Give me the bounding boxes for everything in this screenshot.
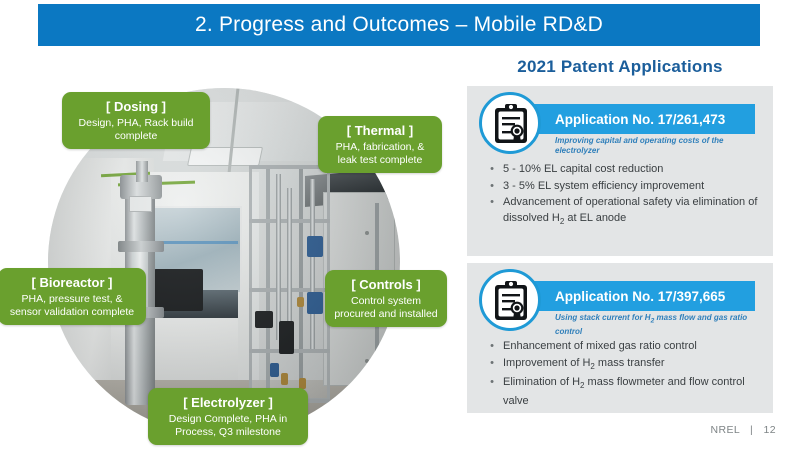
patent-card-2-banner: Application No. 17/397,665 [507,281,755,311]
list-item: • 3 - 5% EL system efficiency improvemen… [481,179,763,195]
bullet-icon: • [481,162,503,178]
callout-controls[interactable]: [ Controls ] Control system procured and… [325,270,447,327]
callout-dosing-title: [ Dosing ] [71,98,201,115]
patent-card-2-bullets: • Enhancement of mixed gas ratio control… [481,339,763,410]
list-item: • Improvement of H2 mass transfer [481,356,763,375]
callout-thermal-title: [ Thermal ] [327,122,433,139]
callout-bioreactor-title: [ Bioreactor ] [7,274,137,291]
patent-card-1[interactable]: Application No. 17/261,473 Improving cap… [467,86,773,256]
footer-separator: | [750,424,753,436]
bullet-icon: • [481,375,503,409]
bullet-icon: • [481,179,503,195]
list-item: • Enhancement of mixed gas ratio control [481,339,763,355]
callout-electrolyzer-subtitle: Design Complete, PHA in Process, Q3 mile… [157,413,299,439]
callout-controls-title: [ Controls ] [334,276,438,293]
patent-card-1-banner: Application No. 17/261,473 [507,104,755,134]
patent-card-1-subtitle: Improving capital and operating costs of… [555,136,751,156]
callout-thermal-subtitle: PHA, fabrication, & leak test complete [327,141,433,167]
slide-footer: NREL | 12 [710,424,776,436]
bullet-text: 3 - 5% EL system efficiency improvement [503,179,763,195]
page-title: 2. Progress and Outcomes – Mobile RD&D [195,13,603,37]
clipboard-certificate-icon [479,92,541,154]
bullet-text: Elimination of H2 mass flowmeter and flo… [503,375,763,409]
slide-title-bar: 2. Progress and Outcomes – Mobile RD&D [38,4,760,46]
callout-dosing-subtitle: Design, PHA, Rack build complete [71,117,201,143]
patent-applications-heading: 2021 Patent Applications [467,57,773,77]
patent-card-2-application-number: Application No. 17/397,665 [555,289,725,304]
callout-electrolyzer[interactable]: [ Electrolyzer ] Design Complete, PHA in… [148,388,308,445]
callout-controls-subtitle: Control system procured and installed [334,295,438,321]
slide: 2. Progress and Outcomes – Mobile RD&D [0,0,800,450]
list-item: • Elimination of H2 mass flowmeter and f… [481,375,763,409]
list-item: • Advancement of operational safety via … [481,195,763,229]
callout-dosing[interactable]: [ Dosing ] Design, PHA, Rack build compl… [62,92,210,149]
footer-page-number: 12 [764,424,776,436]
patent-card-1-bullets: • 5 - 10% EL capital cost reduction • 3 … [481,162,763,230]
callout-bioreactor-subtitle: PHA, pressure test, & sensor validation … [7,293,137,319]
bullet-icon: • [481,339,503,355]
callout-electrolyzer-title: [ Electrolyzer ] [157,394,299,411]
callout-thermal[interactable]: [ Thermal ] PHA, fabrication, & leak tes… [318,116,442,173]
clipboard-certificate-icon [479,269,541,331]
footer-organization: NREL [710,424,739,436]
bullet-text: 5 - 10% EL capital cost reduction [503,162,763,178]
patent-card-1-application-number: Application No. 17/261,473 [555,112,725,127]
list-item: • 5 - 10% EL capital cost reduction [481,162,763,178]
bullet-text: Improvement of H2 mass transfer [503,356,763,375]
bullet-text: Enhancement of mixed gas ratio control [503,339,763,355]
bullet-text: Advancement of operational safety via el… [503,195,763,229]
callout-bioreactor[interactable]: [ Bioreactor ] PHA, pressure test, & sen… [0,268,146,325]
bullet-icon: • [481,356,503,375]
patent-card-2[interactable]: Application No. 17/397,665 Using stack c… [467,263,773,413]
bullet-icon: • [481,195,503,229]
patent-card-2-subtitle: Using stack current for H2 mass flow and… [555,313,751,337]
